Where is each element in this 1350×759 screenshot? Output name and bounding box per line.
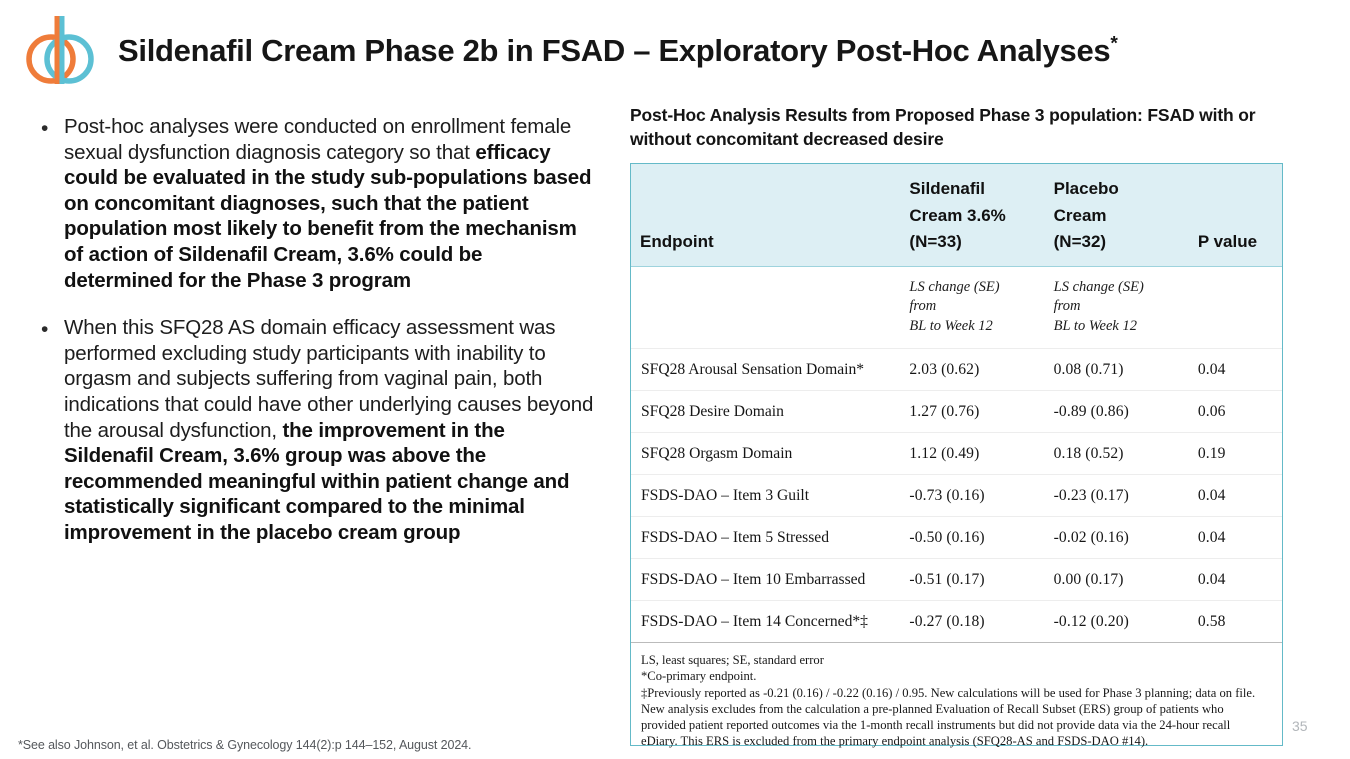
footnote-coprimary: *Co-primary endpoint. bbox=[641, 668, 1270, 684]
cell-placebo: 0.08 (0.71) bbox=[1044, 349, 1188, 391]
table-row: FSDS-DAO – Item 3 Guilt -0.73 (0.16) -0.… bbox=[631, 475, 1282, 517]
table-header-row: Endpoint Sildenafil Cream 3.6% (N=33) Pl… bbox=[631, 164, 1282, 266]
cell-endpoint: FSDS-DAO – Item 3 Guilt bbox=[631, 475, 899, 517]
table-footnotes: LS, least squares; SE, standard error *C… bbox=[631, 643, 1282, 758]
subheader-pvalue bbox=[1188, 266, 1282, 349]
cell-placebo: -0.23 (0.17) bbox=[1044, 475, 1188, 517]
cell-endpoint: SFQ28 Desire Domain bbox=[631, 391, 899, 433]
cell-endpoint: SFQ28 Arousal Sensation Domain* bbox=[631, 349, 899, 391]
table-row: SFQ28 Arousal Sensation Domain* 2.03 (0.… bbox=[631, 349, 1282, 391]
cell-endpoint: FSDS-DAO – Item 10 Embarrassed bbox=[631, 559, 899, 601]
column-header-sildenafil-line1: Sildenafil bbox=[909, 179, 985, 198]
page-number: 35 bbox=[1292, 718, 1308, 734]
subheader-endpoint bbox=[631, 266, 899, 349]
cell-endpoint: FSDS-DAO – Item 5 Stressed bbox=[631, 517, 899, 559]
column-header-sildenafil-line2: Cream 3.6% bbox=[909, 206, 1005, 225]
company-logo bbox=[24, 12, 96, 92]
bullet-marker-icon: • bbox=[36, 315, 64, 545]
cell-sildenafil: 2.03 (0.62) bbox=[899, 349, 1043, 391]
bullet-text: Post-hoc analyses were conducted on enro… bbox=[64, 114, 596, 293]
cell-pvalue: 0.04 bbox=[1188, 517, 1282, 559]
cell-sildenafil: -0.73 (0.16) bbox=[899, 475, 1043, 517]
cell-pvalue: 0.19 bbox=[1188, 433, 1282, 475]
subheader-placebo: LS change (SE) from BL to Week 12 bbox=[1044, 266, 1188, 349]
cell-pvalue: 0.06 bbox=[1188, 391, 1282, 433]
table-row: FSDS-DAO – Item 14 Concerned*‡ -0.27 (0.… bbox=[631, 601, 1282, 643]
table-row: SFQ28 Orgasm Domain 1.12 (0.49) 0.18 (0.… bbox=[631, 433, 1282, 475]
cell-endpoint: FSDS-DAO – Item 14 Concerned*‡ bbox=[631, 601, 899, 643]
table-subheader: LS change (SE) from BL to Week 12 LS cha… bbox=[631, 266, 1282, 349]
logo-icon bbox=[24, 12, 96, 92]
results-table: Endpoint Sildenafil Cream 3.6% (N=33) Pl… bbox=[631, 164, 1282, 643]
subheader-sildenafil-line1: LS change (SE) bbox=[909, 279, 999, 295]
column-header-pvalue: P value bbox=[1188, 164, 1282, 266]
subheader-sildenafil: LS change (SE) from BL to Week 12 bbox=[899, 266, 1043, 349]
footnote-abbreviations: LS, least squares; SE, standard error bbox=[641, 652, 1270, 668]
table-body: SFQ28 Arousal Sensation Domain* 2.03 (0.… bbox=[631, 349, 1282, 643]
table-row: FSDS-DAO – Item 5 Stressed -0.50 (0.16) … bbox=[631, 517, 1282, 559]
cell-sildenafil: 1.12 (0.49) bbox=[899, 433, 1043, 475]
cell-placebo: -0.12 (0.20) bbox=[1044, 601, 1188, 643]
list-item: • Post-hoc analyses were conducted on en… bbox=[36, 114, 596, 293]
column-header-pvalue-line1: P value bbox=[1198, 232, 1257, 251]
cell-sildenafil: 1.27 (0.76) bbox=[899, 391, 1043, 433]
cell-sildenafil: -0.51 (0.17) bbox=[899, 559, 1043, 601]
results-table-container: Endpoint Sildenafil Cream 3.6% (N=33) Pl… bbox=[630, 163, 1283, 746]
page-title-asterisk: * bbox=[1110, 34, 1117, 55]
column-header-placebo-line1: Placebo bbox=[1054, 179, 1119, 198]
cell-placebo: 0.00 (0.17) bbox=[1044, 559, 1188, 601]
page-title-text: Sildenafil Cream Phase 2b in FSAD – Expl… bbox=[118, 33, 1110, 68]
cell-pvalue: 0.04 bbox=[1188, 475, 1282, 517]
subheader-placebo-line2: from bbox=[1054, 298, 1081, 314]
cell-pvalue: 0.04 bbox=[1188, 559, 1282, 601]
bullet-text: When this SFQ28 AS domain efficacy asses… bbox=[64, 315, 596, 545]
results-panel-header: Post-Hoc Analysis Results from Proposed … bbox=[630, 103, 1290, 151]
results-panel-title: Post-Hoc Analysis Results from Proposed … bbox=[630, 103, 1285, 151]
cell-placebo: -0.89 (0.86) bbox=[1044, 391, 1188, 433]
cell-pvalue: 0.04 bbox=[1188, 349, 1282, 391]
subheader-placebo-line1: LS change (SE) bbox=[1054, 279, 1144, 295]
column-header-placebo-line2: Cream bbox=[1054, 206, 1107, 225]
slide-header: Sildenafil Cream Phase 2b in FSAD – Expl… bbox=[0, 0, 1350, 100]
list-item: • When this SFQ28 AS domain efficacy ass… bbox=[36, 315, 596, 545]
table-row: SFQ28 Desire Domain 1.27 (0.76) -0.89 (0… bbox=[631, 391, 1282, 433]
column-header-endpoint-line1: Endpoint bbox=[640, 232, 714, 251]
slide: Sildenafil Cream Phase 2b in FSAD – Expl… bbox=[0, 0, 1350, 759]
table-row: FSDS-DAO – Item 10 Embarrassed -0.51 (0.… bbox=[631, 559, 1282, 601]
page-title: Sildenafil Cream Phase 2b in FSAD – Expl… bbox=[118, 33, 1118, 69]
cell-placebo: 0.18 (0.52) bbox=[1044, 433, 1188, 475]
citation-footnote: *See also Johnson, et al. Obstetrics & G… bbox=[18, 738, 471, 752]
cell-placebo: -0.02 (0.16) bbox=[1044, 517, 1188, 559]
subheader-sildenafil-line2: from bbox=[909, 298, 936, 314]
column-header-endpoint: Endpoint bbox=[631, 164, 899, 266]
footnote-previously-reported: ‡Previously reported as -0.21 (0.16) / -… bbox=[641, 685, 1270, 750]
column-header-sildenafil: Sildenafil Cream 3.6% (N=33) bbox=[899, 164, 1043, 266]
bullet-list: • Post-hoc analyses were conducted on en… bbox=[36, 114, 596, 568]
cell-endpoint: SFQ28 Orgasm Domain bbox=[631, 433, 899, 475]
table-row-subheader: LS change (SE) from BL to Week 12 LS cha… bbox=[631, 266, 1282, 349]
column-header-placebo: Placebo Cream (N=32) bbox=[1044, 164, 1188, 266]
subheader-sildenafil-line3: BL to Week 12 bbox=[909, 318, 992, 334]
column-header-sildenafil-line3: (N=33) bbox=[909, 232, 961, 251]
column-header-placebo-line3: (N=32) bbox=[1054, 232, 1106, 251]
cell-sildenafil: -0.27 (0.18) bbox=[899, 601, 1043, 643]
cell-pvalue: 0.58 bbox=[1188, 601, 1282, 643]
bullet-marker-icon: • bbox=[36, 114, 64, 293]
cell-sildenafil: -0.50 (0.16) bbox=[899, 517, 1043, 559]
subheader-placebo-line3: BL to Week 12 bbox=[1054, 318, 1137, 334]
